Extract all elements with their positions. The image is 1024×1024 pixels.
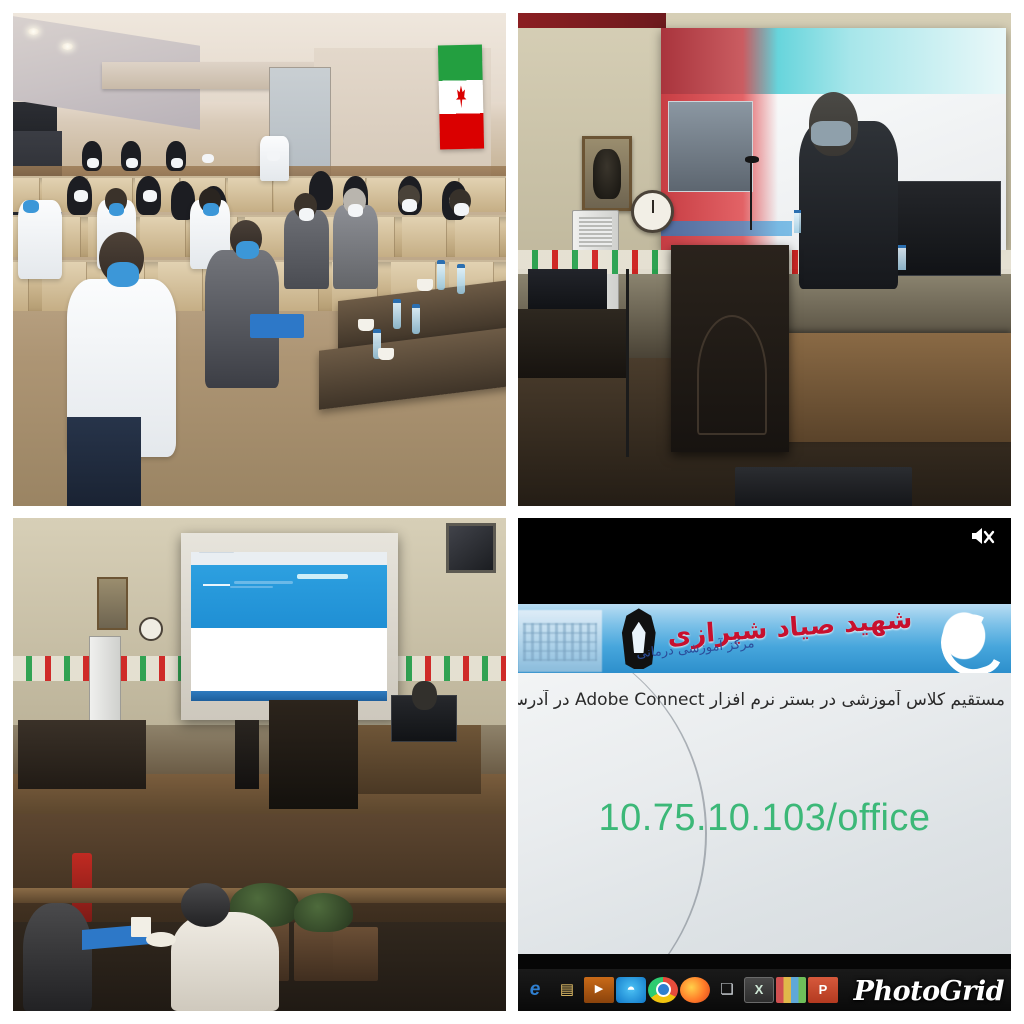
back-desk [518, 309, 626, 378]
notebook [250, 314, 304, 339]
text-line [230, 586, 273, 589]
attendee [333, 205, 377, 289]
file-explorer-icon[interactable]: ▤ [552, 977, 582, 1003]
cup [358, 319, 374, 331]
water-bottle [437, 260, 445, 290]
attendee-white-coat [18, 200, 62, 279]
face-mask [454, 203, 469, 215]
face-mask [87, 158, 99, 168]
face-mask [402, 199, 417, 211]
ac-grill [579, 217, 613, 247]
mozilla-firefox-icon[interactable] [680, 977, 710, 1003]
flower-planter [333, 927, 377, 981]
page-header-banner [191, 565, 386, 628]
face-mask [107, 262, 140, 287]
text-line [234, 581, 293, 584]
photo-app-icon[interactable] [776, 977, 806, 1003]
face-mask [203, 203, 219, 216]
podium [269, 700, 358, 808]
face-mask [171, 158, 183, 168]
icon-row [203, 584, 230, 587]
water-bottle [393, 299, 401, 329]
iran-flag [438, 45, 485, 149]
media-player-icon[interactable]: ▶ [584, 977, 614, 1003]
head [181, 883, 230, 927]
amplifier [735, 467, 912, 506]
hospital-banner: شهید صیاد شیرازی مرکز آموزشی درمانی [518, 604, 1011, 673]
microphone-icon [750, 161, 752, 230]
face-mask [109, 203, 125, 216]
face-mask [126, 158, 138, 168]
panel-top-left [13, 13, 506, 506]
framed-portrait [582, 136, 632, 211]
air-conditioner [89, 636, 121, 722]
loudspeaker [235, 720, 260, 789]
face-mask [143, 190, 157, 202]
iran-emblem-icon [455, 85, 468, 108]
red-rail [518, 13, 666, 28]
downlight-icon [28, 28, 39, 35]
slide-body-text: مستقیم کلاس آموزشی در بستر نرم افزار Ado… [518, 690, 1011, 710]
cup [417, 279, 433, 291]
face-mask [811, 121, 850, 146]
powerpoint-icon[interactable]: P [808, 977, 838, 1003]
trousers [67, 417, 141, 506]
downlight-icon [62, 43, 73, 50]
operator-person [412, 681, 437, 711]
water-bottle [457, 264, 465, 294]
flowers [294, 893, 353, 932]
mic-stand [626, 269, 629, 456]
internet-explorer-icon[interactable]: e [520, 977, 550, 1003]
water-bottle [898, 245, 906, 270]
excel-icon[interactable]: X [744, 977, 774, 1003]
attendee [284, 210, 328, 289]
projected-browser-window [191, 552, 386, 702]
browser-toolbar [191, 552, 386, 565]
face-mask [74, 190, 88, 202]
input-field [297, 574, 348, 580]
photogrid-collage: شهید صیاد شیرازی مرکز آموزشی درمانی مستق… [0, 0, 1024, 1024]
attendee [23, 903, 92, 1011]
video-thumbnail [668, 101, 753, 192]
cup [378, 348, 394, 360]
face-mask [299, 208, 314, 221]
photogrid-watermark: PhotoGrid [854, 976, 1004, 1007]
monitor [528, 269, 607, 313]
sync-app-icon[interactable]: ◓ [616, 977, 646, 1003]
attendee [171, 912, 279, 1011]
panel-top-right [518, 13, 1011, 506]
black-letterbox-top [518, 518, 1011, 604]
panel-bottom-right: شهید صیاد شیرازی مرکز آموزشی درمانی مستق… [518, 518, 1011, 1011]
face-mask [348, 204, 363, 217]
projection-screen [181, 533, 398, 720]
face-mask [267, 151, 280, 161]
panel-bottom-left [13, 518, 506, 1011]
monitor [896, 181, 1002, 277]
back-desk [18, 720, 146, 789]
google-chrome-icon[interactable] [648, 977, 678, 1003]
face-mask [236, 241, 259, 259]
face-mask [23, 200, 39, 213]
podium-arch-ornament [697, 315, 767, 435]
browser-tab [199, 552, 234, 553]
podium [671, 245, 789, 452]
speaker-muted-icon[interactable] [970, 525, 996, 547]
framed-picture [446, 523, 496, 573]
face-mask [202, 154, 214, 164]
screen-toolbar [661, 221, 792, 237]
presentation-slide: مستقیم کلاس آموزشی در بستر نرم افزار Ado… [518, 673, 1011, 954]
water-bottle [412, 304, 420, 334]
water-bottle [794, 210, 801, 233]
printer-app-icon[interactable]: ❏ [712, 977, 742, 1003]
plate [146, 932, 176, 947]
adobe-connect-url: 10.75.10.103/office [518, 797, 1011, 840]
ministry-of-health-logo [932, 607, 996, 670]
hospital-building-photo [518, 610, 602, 672]
framed-portrait [97, 577, 128, 630]
